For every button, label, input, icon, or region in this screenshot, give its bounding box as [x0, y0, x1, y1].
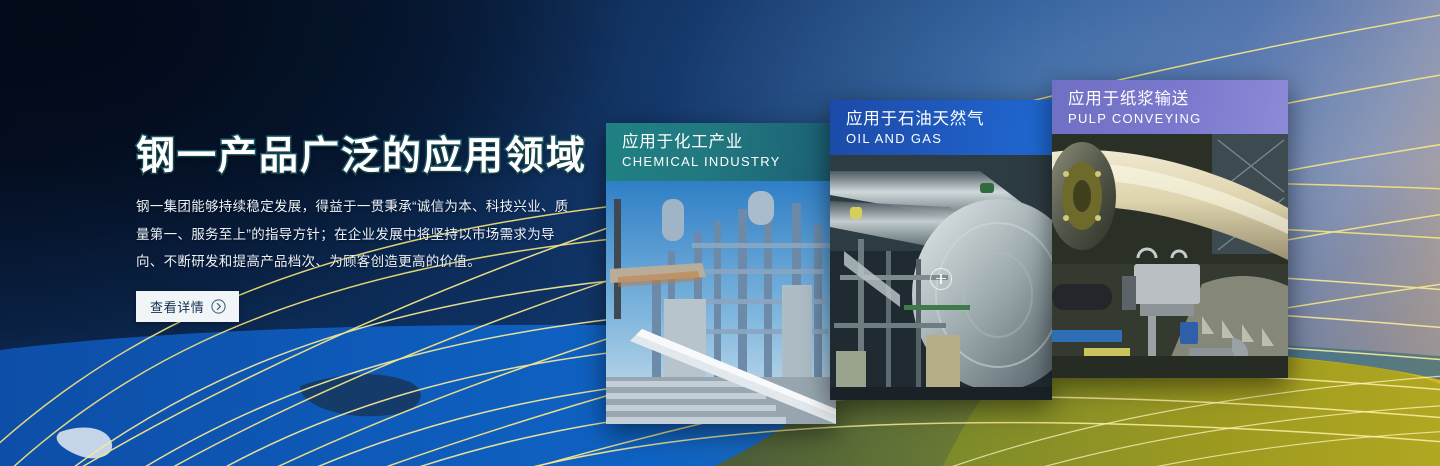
card-title-cn: 应用于化工产业: [622, 132, 820, 153]
card-header-chemical: 应用于化工产业 CHEMICAL INDUSTRY: [606, 123, 836, 181]
application-card-pulp[interactable]: 应用于纸浆输送 PULP CONVEYING: [1052, 80, 1288, 378]
view-details-button[interactable]: 查看详情: [136, 291, 239, 322]
paper-pulp-roller-photo: [1052, 134, 1288, 378]
card-header-pulp: 应用于纸浆输送 PULP CONVEYING: [1052, 80, 1288, 134]
view-details-label: 查看详情: [150, 297, 204, 316]
hero-description: 钢一集团能够持续稳定发展，得益于一贯秉承“诚信为本、科技兴业、质量第一、服务至上…: [136, 193, 581, 275]
application-card-chemical[interactable]: 应用于化工产业 CHEMICAL INDUSTRY: [606, 123, 836, 424]
hero-banner: 钢一产品广泛的应用领域 钢一集团能够持续稳定发展，得益于一贯秉承“诚信为本、科技…: [0, 0, 1440, 466]
card-title-en: OIL AND GAS: [846, 131, 1036, 148]
page-title: 钢一产品广泛的应用领域: [136, 136, 606, 177]
card-title-cn: 应用于纸浆输送: [1068, 89, 1272, 110]
card-title-en: CHEMICAL INDUSTRY: [622, 154, 820, 171]
oil-and-gas-pipework-photo: [830, 155, 1052, 400]
hero-copy: 钢一产品广泛的应用领域 钢一集团能够持续稳定发展，得益于一贯秉承“诚信为本、科技…: [136, 136, 606, 322]
plus-circle-icon[interactable]: [930, 268, 952, 290]
card-title-en: PULP CONVEYING: [1068, 111, 1272, 128]
card-header-oil-gas: 应用于石油天然气 OIL AND GAS: [830, 100, 1052, 155]
chevron-right-circle-icon: [211, 299, 226, 314]
card-title-cn: 应用于石油天然气: [846, 109, 1036, 130]
chemical-plant-photo: [606, 181, 836, 424]
application-card-oil-gas[interactable]: 应用于石油天然气 OIL AND GAS: [830, 100, 1052, 400]
